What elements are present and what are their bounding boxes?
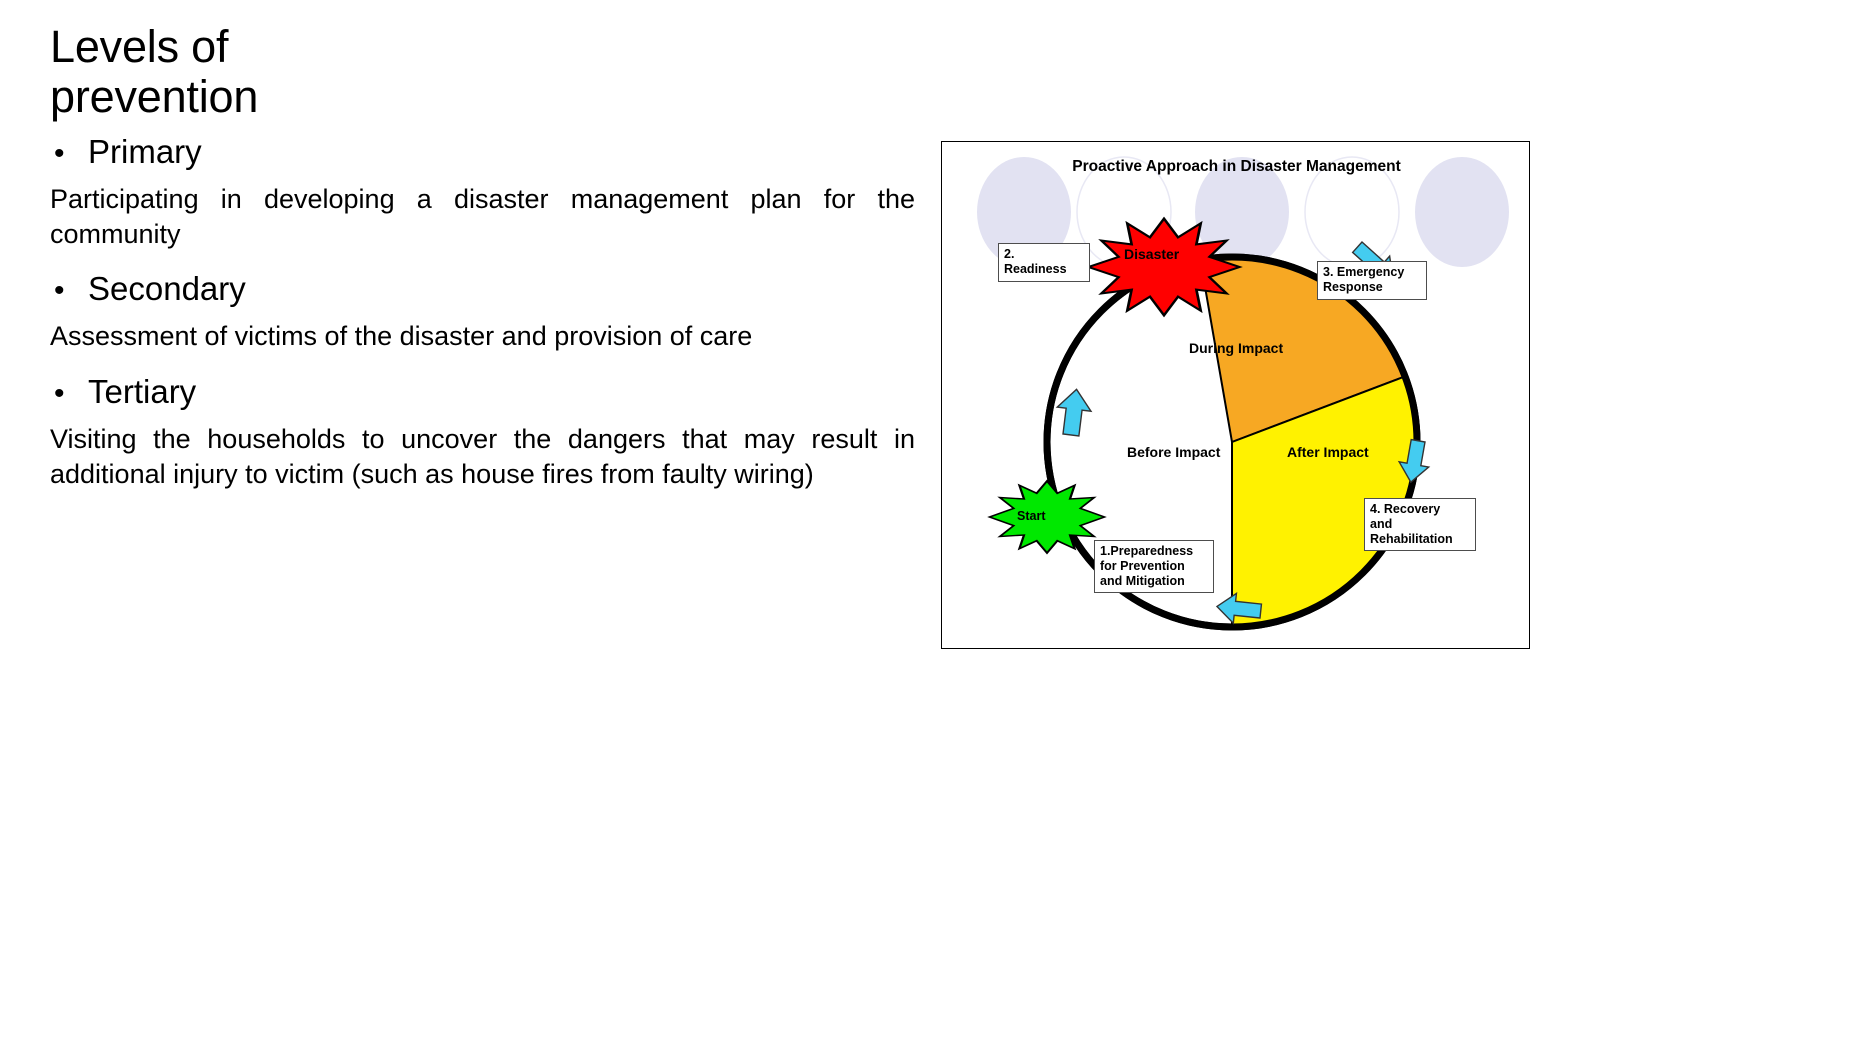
bullet-label-tertiary: Tertiary [88, 371, 196, 412]
paragraph-tertiary: Visiting the households to uncover the d… [50, 422, 915, 492]
list-item: • Tertiary [50, 371, 915, 412]
bullet-label-secondary: Secondary [88, 268, 246, 309]
bullet-label-primary: Primary [88, 131, 202, 172]
wedge-label-before-impact: Before Impact [1127, 444, 1220, 460]
diagram-title: Proactive Approach in Disaster Managemen… [942, 158, 1530, 176]
list-item: • Secondary [50, 268, 915, 309]
stage-box-preparedness: 1.Preparedness for Prevention and Mitiga… [1094, 540, 1214, 593]
wedge-label-during-impact: During Impact [1189, 340, 1283, 356]
stage-box-readiness: 2. Readiness [998, 243, 1090, 282]
wedge-label-after-impact: After Impact [1287, 444, 1369, 460]
stage-box-emergency-response: 3. Emergency Response [1317, 261, 1427, 300]
disaster-burst-label: Disaster [1124, 246, 1179, 262]
page-title: Levels of prevention [50, 22, 915, 123]
disaster-management-diagram: Proactive Approach in Disaster Managemen… [941, 141, 1530, 649]
start-burst-label: Start [1017, 509, 1045, 523]
bullet-icon: • [50, 379, 88, 409]
paragraph-secondary: Assessment of victims of the disaster an… [50, 319, 915, 354]
list-item: • Primary [50, 131, 915, 172]
paragraph-primary: Participating in developing a disaster m… [50, 182, 915, 252]
stage-box-recovery: 4. Recovery and Rehabilitation [1364, 498, 1476, 551]
bullet-icon: • [50, 276, 88, 306]
diagram-graphics [942, 142, 1530, 649]
bullet-icon: • [50, 139, 88, 169]
slide-text-column: Levels of prevention • Primary Participa… [50, 22, 915, 492]
